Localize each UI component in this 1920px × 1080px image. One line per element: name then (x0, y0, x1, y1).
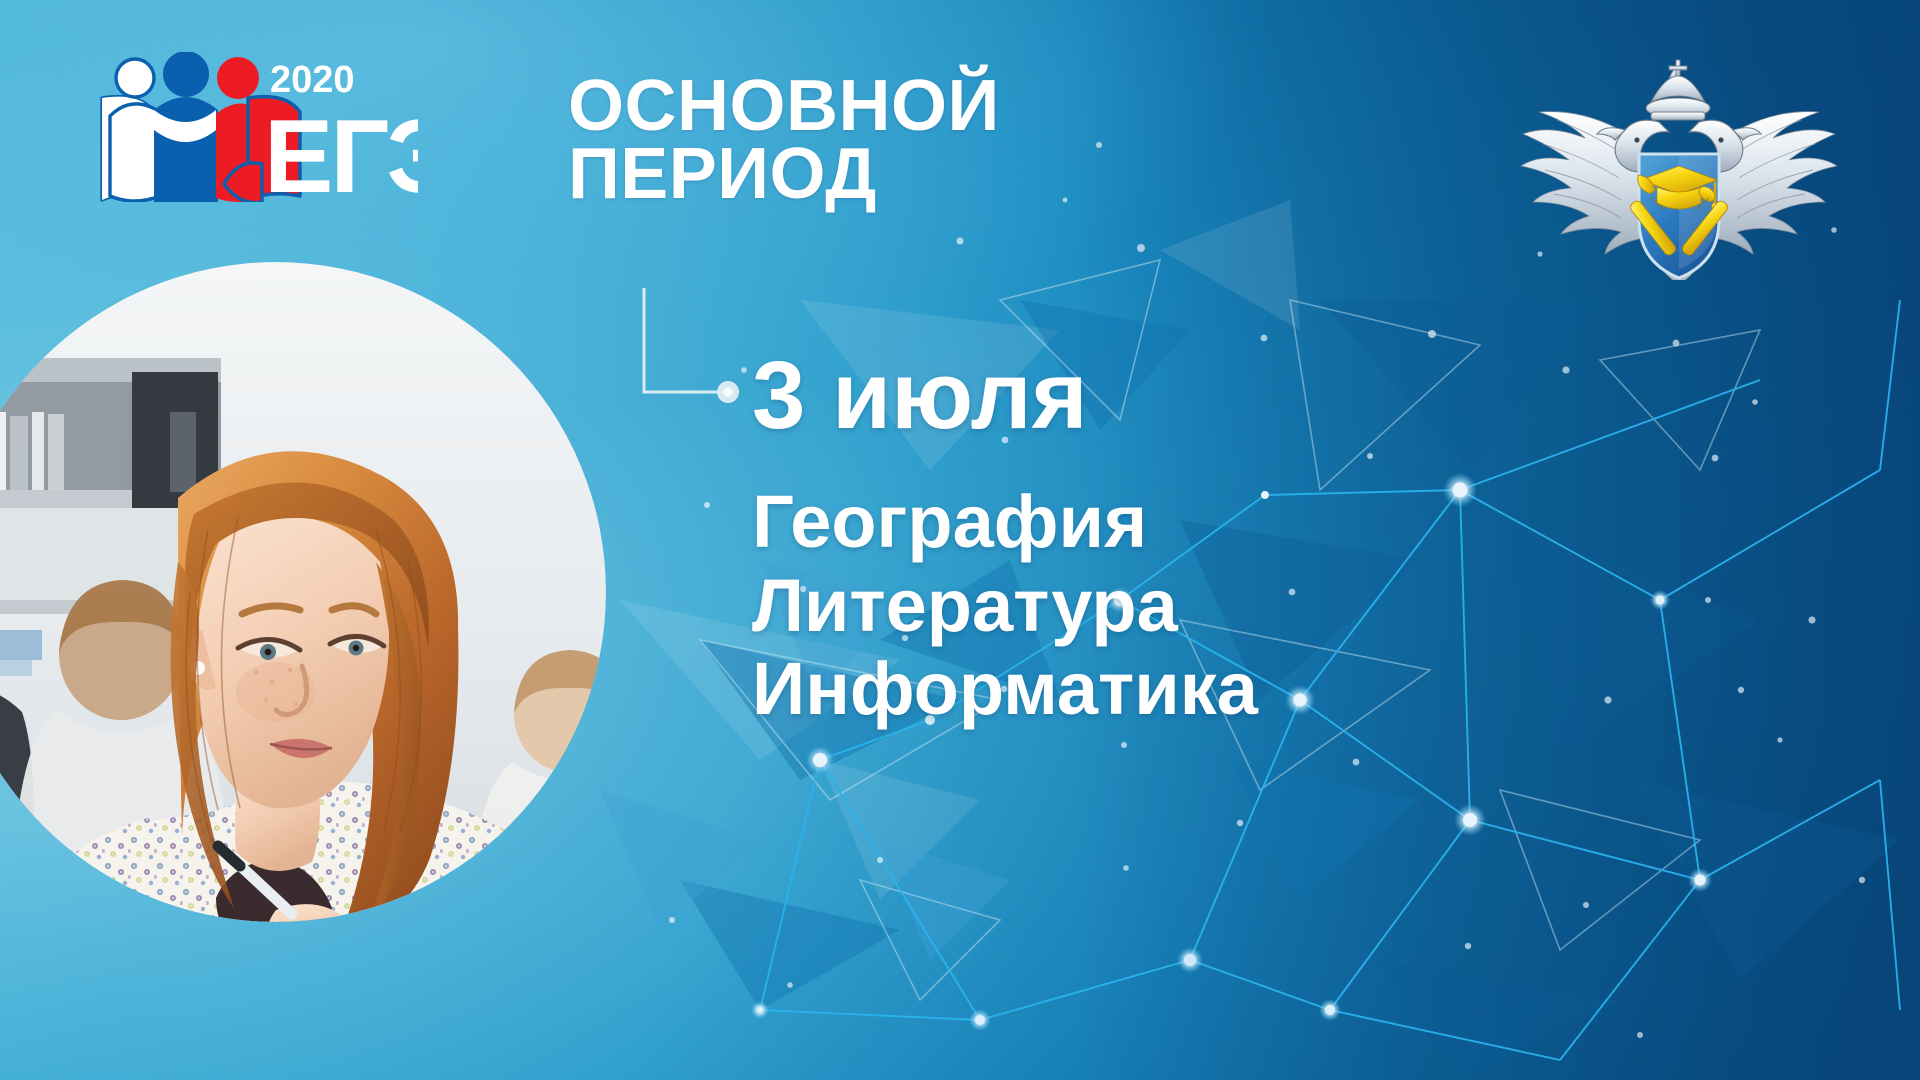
ege-2020-logo: 2020 ЕГЭ (88, 52, 418, 202)
subject-item: География (752, 480, 1258, 564)
subject-item: Литература (752, 564, 1258, 648)
headline-line-1: ОСНОВНОЙ (568, 72, 1128, 140)
exam-date: 3 июля (752, 348, 1088, 444)
subject-item: Информатика (752, 647, 1258, 731)
headline-line-2: ПЕРИОД (568, 140, 1128, 208)
poster-root: 2020 ЕГЭ (0, 0, 1920, 1080)
logo-abbr: ЕГЭ (264, 99, 418, 202)
subject-list: География Литература Информатика (752, 480, 1258, 731)
rosobrnadzor-emblem (1519, 44, 1839, 280)
page-title: ОСНОВНОЙ ПЕРИОД (568, 72, 1128, 209)
elbow-connector (640, 288, 750, 406)
logo-year: 2020 (270, 59, 355, 101)
